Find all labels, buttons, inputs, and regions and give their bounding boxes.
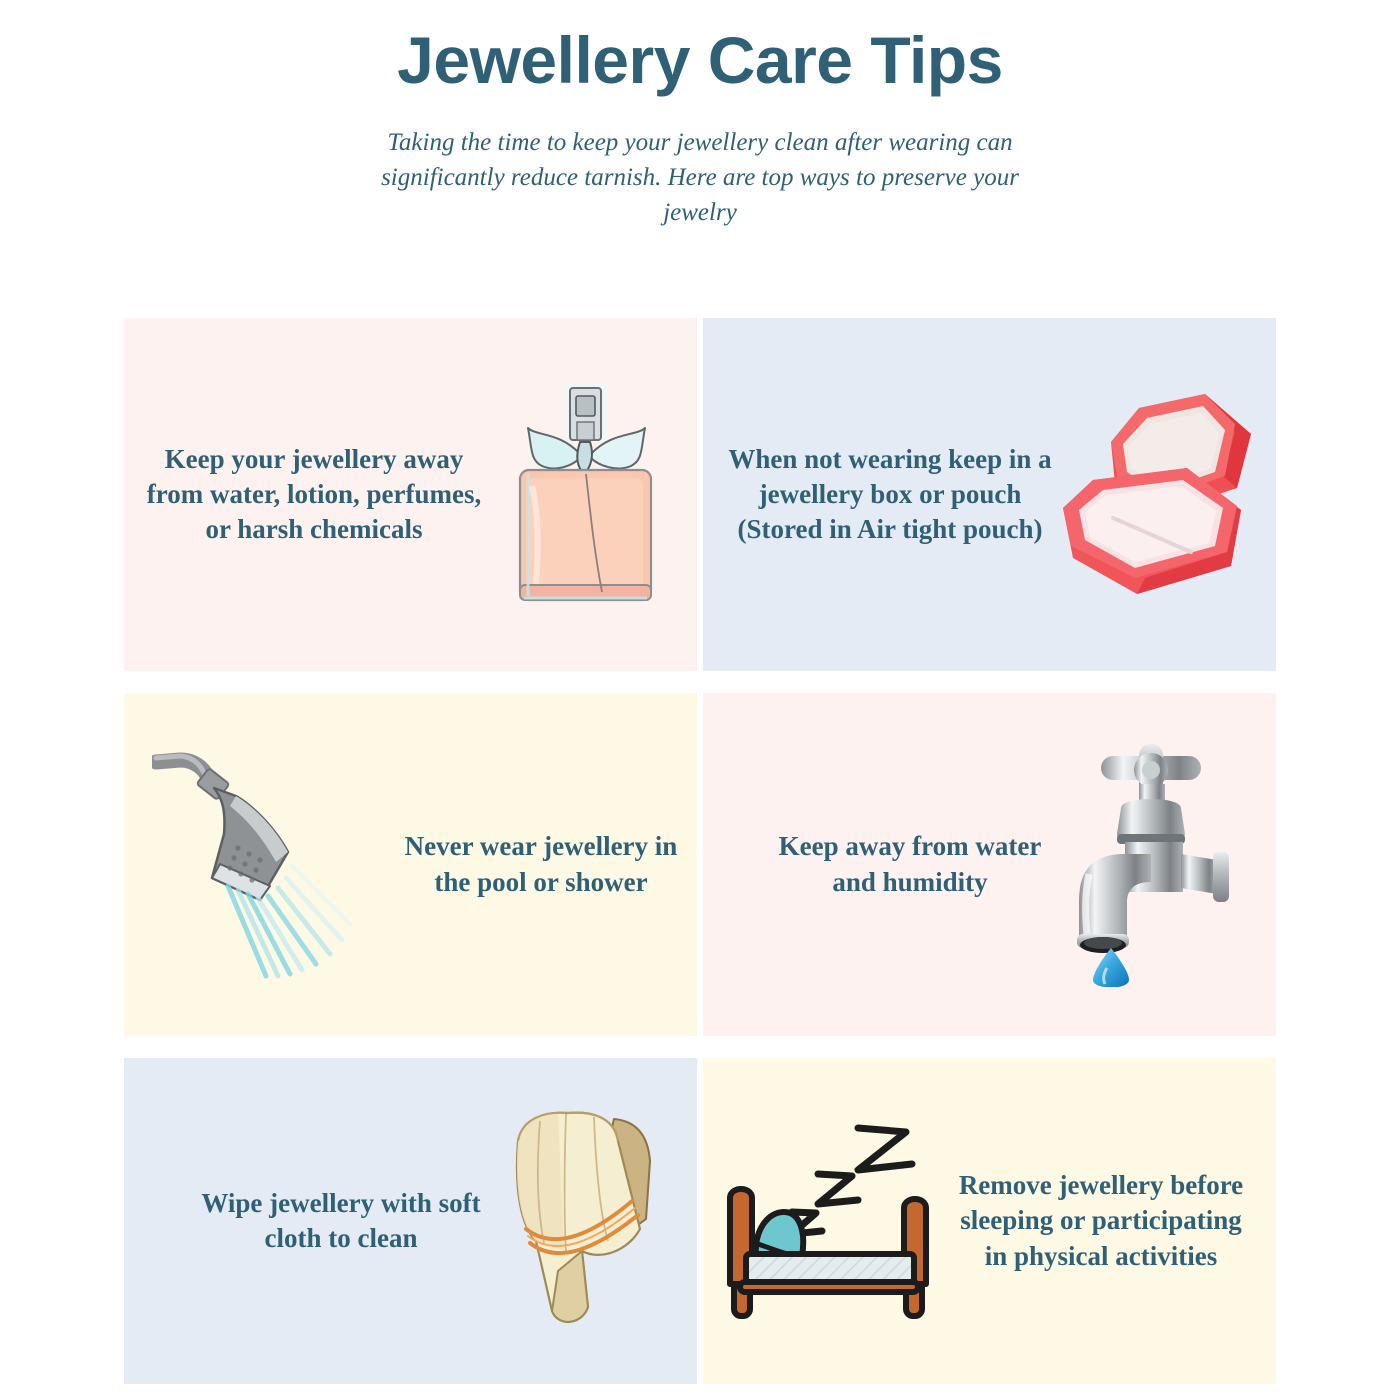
tip-card-4: Keep away from water and humidity [703, 693, 1276, 1036]
tip-card-6: Remove jewellery before sleeping or part… [703, 1058, 1276, 1384]
page-subtitle: Taking the time to keep your jewellery c… [380, 125, 1020, 230]
tip-card-2-text: When not wearing keep in a jewellery box… [703, 442, 1055, 547]
bed-sleep-icon [706, 1116, 956, 1326]
tip-card-4-text: Keep away from water and humidity [703, 829, 1055, 899]
cloth-icon [496, 1101, 671, 1341]
page-title: Jewellery Care Tips [0, 26, 1400, 95]
perfume-bottle-icon [498, 370, 673, 620]
infographic-page: Jewellery Care Tips Taking the time to k… [0, 0, 1400, 1400]
tip-card-6-text: Remove jewellery before sleeping or part… [956, 1168, 1276, 1273]
tip-card-6-art [703, 1116, 956, 1326]
header: Jewellery Care Tips Taking the time to k… [0, 0, 1400, 230]
tip-card-1-art [484, 370, 697, 620]
tips-grid: Keep your jewellery away from water, lot… [124, 318, 1276, 1384]
tip-card-3: Never wear jewellery in the pool or show… [124, 693, 697, 1036]
shower-head-icon [152, 740, 382, 990]
tip-card-2-art [1055, 380, 1276, 610]
tip-card-5: Wipe jewellery with soft cloth to clean [124, 1058, 697, 1384]
tip-card-5-text: Wipe jewellery with soft cloth to clean [124, 1186, 496, 1256]
faucet-drip-icon [1055, 742, 1245, 987]
tip-card-3-art [124, 740, 391, 990]
tip-card-1-text: Keep your jewellery away from water, lot… [124, 442, 484, 547]
ring-box-icon [1055, 380, 1270, 610]
tip-card-3-text: Never wear jewellery in the pool or show… [391, 829, 697, 899]
tip-card-5-art [496, 1101, 697, 1341]
tip-card-4-art [1055, 742, 1276, 987]
tip-card-1: Keep your jewellery away from water, lot… [124, 318, 697, 671]
tip-card-2: When not wearing keep in a jewellery box… [703, 318, 1276, 671]
